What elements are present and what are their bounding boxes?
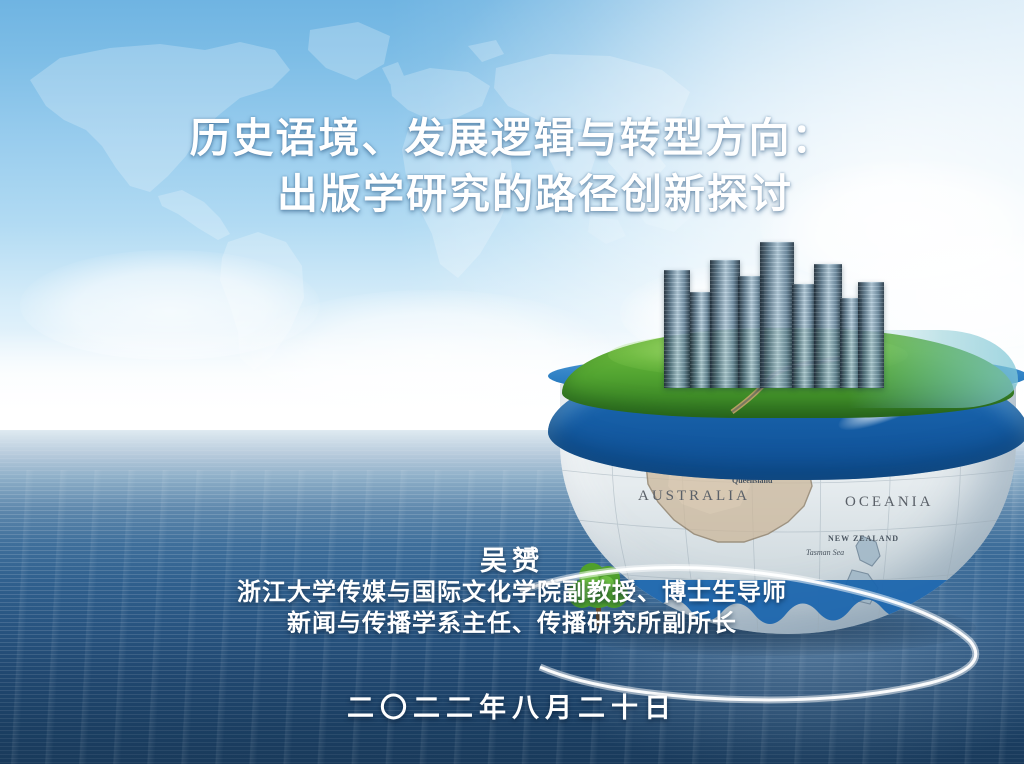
presenter-name: 吴赟 [0,544,1024,578]
presenter-info: 吴赟 浙江大学传媒与国际文化学院副教授、博士生导师 新闻与传播学系主任、传播研究… [0,544,1024,640]
building [858,282,884,388]
slide-date: 二〇二二年八月二十日 [0,686,1024,725]
building [760,242,794,388]
slide-title: 历史语境、发展逻辑与转型方向： 出版学研究的路径创新探讨 [0,110,1024,222]
presentation-title-slide: AUSTRALIA OCEANIA Northern Territory Que… [0,0,1024,764]
building [814,264,842,388]
city-skyline [644,238,904,388]
title-line-2: 出版学研究的路径创新探讨 [0,166,1024,222]
building [792,284,816,388]
building [664,270,690,388]
building [710,260,740,388]
building [690,292,712,388]
title-line-1: 历史语境、发展逻辑与转型方向： [0,110,1024,166]
presenter-affiliation-line-2: 新闻与传播学系主任、传播研究所副所长 [0,609,1024,640]
presenter-affiliation-line-1: 浙江大学传媒与国际文化学院副教授、博士生导师 [0,578,1024,609]
